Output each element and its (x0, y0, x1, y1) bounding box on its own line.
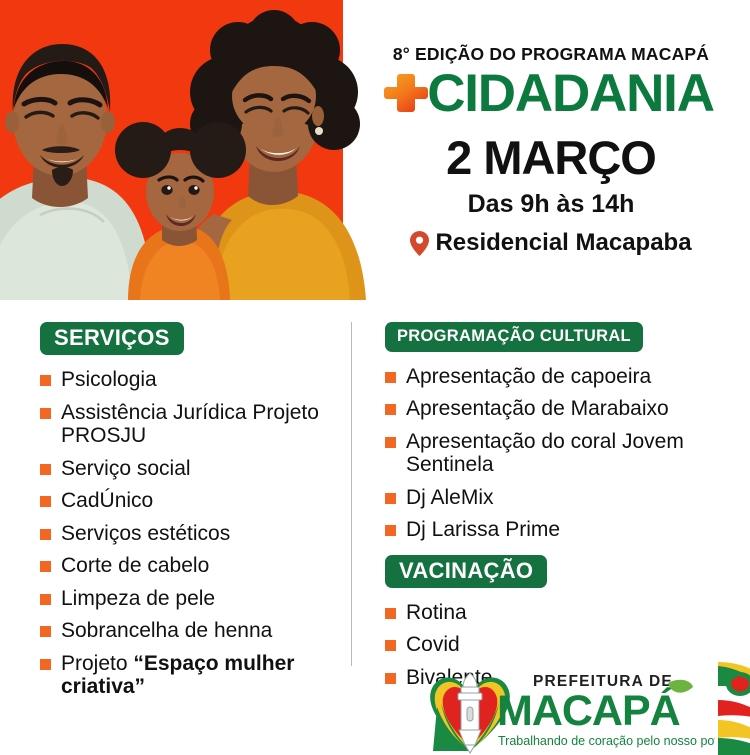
cultural-badge: PROGRAMAÇÃO CULTURAL (385, 322, 643, 352)
services-list: PsicologiaAssistência Jurídica Projeto P… (40, 368, 340, 699)
list-item-label: Dj Larissa Prime (406, 518, 560, 542)
list-item: Psicologia (40, 368, 340, 392)
list-item-label: Covid (406, 633, 460, 657)
list-item: Apresentação de capoeira (385, 365, 730, 389)
list-item-label: Projeto “Espaço mulher criativa” (61, 652, 340, 699)
spacer (385, 542, 730, 555)
prefeitura-tagline: Trabalhando de coração pelo nosso povo (498, 734, 715, 748)
cultural-list: Apresentação de capoeiraApresentação de … (385, 365, 730, 542)
bullet-square-icon (385, 372, 396, 383)
vaccination-badge: VACINAÇÃO (385, 555, 547, 588)
flyer: 8° EDIÇÃO DO PROGRAMA MACAPÁ CIDADANIA 2… (0, 0, 750, 755)
list-item-label: CadÚnico (61, 489, 153, 513)
list-item: Dj AleMix (385, 486, 730, 510)
prefeitura-logo: PREFEITURA DE MACAPÁ Trabalhando de cora… (425, 663, 715, 755)
list-item: Assistência Jurídica Projeto PROSJU (40, 401, 340, 448)
list-item: Covid (385, 633, 730, 657)
event-location: Residencial Macapaba (352, 231, 750, 256)
list-item-label: Apresentação de capoeira (406, 365, 651, 389)
location-pin-icon (410, 231, 429, 256)
list-item-label: Psicologia (61, 368, 157, 392)
edition-label: 8° EDIÇÃO DO PROGRAMA MACAPÁ (352, 46, 750, 64)
bullet-square-icon (40, 408, 51, 419)
bullet-square-icon (385, 673, 396, 684)
list-item-label: Serviço social (61, 457, 191, 481)
plus-icon (384, 71, 428, 115)
bullet-square-icon (385, 525, 396, 536)
list-item-label: Dj AleMix (406, 486, 494, 510)
list-item: Serviços estéticos (40, 522, 340, 546)
city-name: MACAPÁ (497, 687, 680, 735)
list-item-label: Serviços estéticos (61, 522, 230, 546)
list-item: Serviço social (40, 457, 340, 481)
bullet-square-icon (40, 375, 51, 386)
bullet-square-icon (40, 626, 51, 637)
family-photo (0, 0, 386, 300)
cultural-column: PROGRAMAÇÃO CULTURAL Apresentação de cap… (385, 322, 730, 689)
bullet-square-icon (385, 437, 396, 448)
list-item: Dj Larissa Prime (385, 518, 730, 542)
list-item: Apresentação do coral Jovem Sentinela (385, 430, 730, 477)
list-item-label: Rotina (406, 601, 467, 625)
list-item: Rotina (385, 601, 730, 625)
bullet-square-icon (40, 659, 51, 670)
bullet-square-icon (40, 529, 51, 540)
list-item: Sobrancelha de henna (40, 619, 340, 643)
bullet-square-icon (40, 594, 51, 605)
list-item-label: Corte de cabelo (61, 554, 209, 578)
event-date: 2 MARÇO (352, 134, 750, 181)
bullet-square-icon (40, 561, 51, 572)
event-hours: Das 9h às 14h (352, 192, 750, 217)
list-item: CadÚnico (40, 489, 340, 513)
program-logo: CIDADANIA (348, 67, 750, 120)
column-divider (351, 322, 352, 666)
program-name: CIDADANIA (427, 67, 714, 120)
bullet-square-icon (40, 496, 51, 507)
list-item: Apresentação de Marabaixo (385, 397, 730, 421)
header-block: 8° EDIÇÃO DO PROGRAMA MACAPÁ CIDADANIA 2… (352, 46, 750, 256)
list-item-label: Sobrancelha de henna (61, 619, 272, 643)
bullet-square-icon (385, 404, 396, 415)
list-item-label: Apresentação do coral Jovem Sentinela (406, 430, 730, 477)
bullet-square-icon (385, 640, 396, 651)
list-item-label: Assistência Jurídica Projeto PROSJU (61, 401, 340, 448)
bullet-square-icon (40, 464, 51, 475)
location-name: Residencial Macapaba (435, 231, 691, 255)
services-badge: SERVIÇOS (40, 322, 184, 355)
list-item-label: Apresentação de Marabaixo (406, 397, 669, 421)
bullet-square-icon (385, 608, 396, 619)
list-item-label: Limpeza de pele (61, 587, 215, 611)
services-column: SERVIÇOS PsicologiaAssistência Jurídica … (40, 322, 340, 699)
bullet-square-icon (385, 493, 396, 504)
list-item: Corte de cabelo (40, 554, 340, 578)
list-item: Projeto “Espaço mulher criativa” (40, 652, 340, 699)
secondary-logo-cropped (718, 658, 750, 755)
list-item: Limpeza de pele (40, 587, 340, 611)
